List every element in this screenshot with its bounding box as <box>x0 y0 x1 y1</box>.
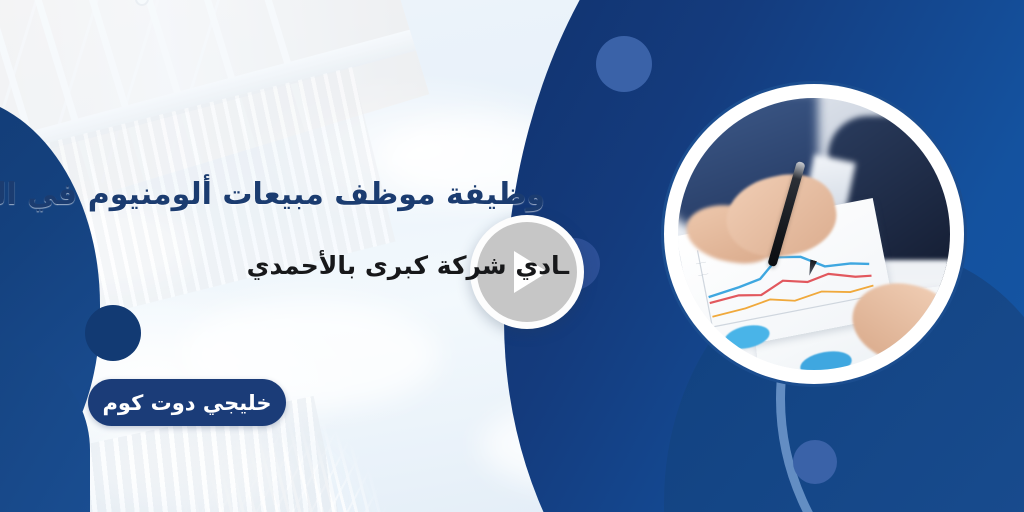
photo-circle-frame: ________ <box>664 84 964 384</box>
brand-cta-button[interactable]: خليجي دوت كوم <box>88 379 286 426</box>
svg-text:____: ____ <box>694 257 706 265</box>
page-subtitle: ـادي شركة كبرى بالأحمدي <box>129 250 569 283</box>
job-banner: ________ وظيفة موظف مبيعات ألومنيوم في ا… <box>0 0 1024 512</box>
accent-circle-left <box>85 305 141 361</box>
accent-circle-bottom <box>793 440 837 484</box>
business-meeting-photo: ________ <box>678 98 950 370</box>
accent-circle-top <box>596 36 652 92</box>
svg-text:____: ____ <box>696 269 708 277</box>
page-title: وظيفة موظف مبيعات ألومنيوم في الكويت <box>25 176 545 214</box>
